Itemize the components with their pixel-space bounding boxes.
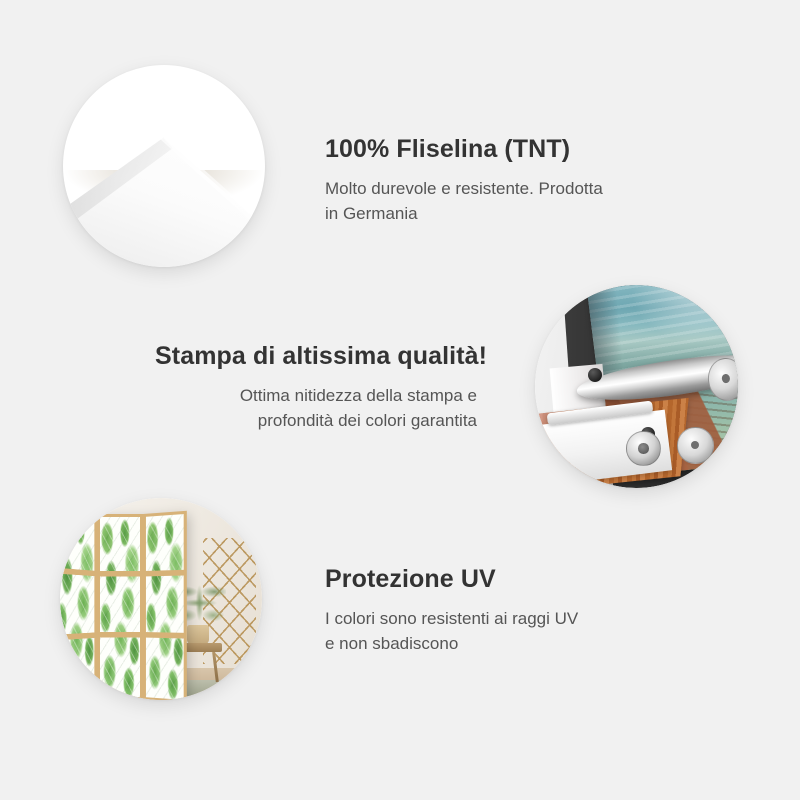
- divider-panel-2: [97, 514, 142, 700]
- large-format-printer-image: [535, 285, 738, 488]
- monstera-leaf-pattern: [60, 509, 95, 700]
- printer-image-inner: [535, 285, 738, 488]
- printer-wheel-left: [626, 431, 660, 465]
- feature-description-line-2: profondità dei colori garantita: [258, 411, 477, 430]
- monstera-leaf-pattern: [146, 514, 183, 700]
- feature-highlights-panel: 100% Fliselina (TNT) Molto durevole e re…: [0, 0, 800, 800]
- feature-text-stampa: Stampa di altissima qualità! Ottima niti…: [155, 341, 477, 434]
- printer-wheel-right: [677, 427, 714, 464]
- room-divider-image-inner: [60, 498, 262, 700]
- feature-text-fliselina: 100% Fliselina (TNT) Molto durevole e re…: [325, 134, 685, 227]
- feature-title-uv: Protezione UV: [325, 564, 685, 595]
- divider-panel-3: [143, 511, 186, 700]
- divider-panel-1: [60, 505, 97, 700]
- wallpaper-image-inner: [63, 65, 265, 267]
- feature-text-uv: Protezione UV I colori sono resistenti a…: [325, 564, 685, 657]
- folding-room-divider: [60, 514, 185, 700]
- feature-description-line-1: Ottima nitidezza della stampa e: [240, 386, 477, 405]
- feature-description-stampa: Ottima nitidezza della stampa e profondi…: [155, 384, 477, 433]
- feature-description-line-1: Molto durevole e resistente. Prodotta: [325, 179, 603, 198]
- tropical-room-divider-image: [60, 498, 262, 700]
- wallpaper-roll-peeled-corner-image: [63, 65, 265, 267]
- feature-description-uv: I colori sono resistenti ai raggi UV e n…: [325, 607, 685, 656]
- feature-description-fliselina: Molto durevole e resistente. Prodotta in…: [325, 177, 685, 226]
- feature-description-line-2: in Germania: [325, 204, 418, 223]
- feature-description-line-1: I colori sono resistenti ai raggi UV: [325, 609, 578, 628]
- feature-title-stampa: Stampa di altissima qualità!: [155, 341, 477, 372]
- plant-pot: [187, 625, 209, 645]
- feature-title-fliselina: 100% Fliselina (TNT): [325, 134, 685, 165]
- feature-description-line-2: e non sbadiscono: [325, 634, 458, 653]
- monstera-leaf-pattern: [100, 517, 139, 697]
